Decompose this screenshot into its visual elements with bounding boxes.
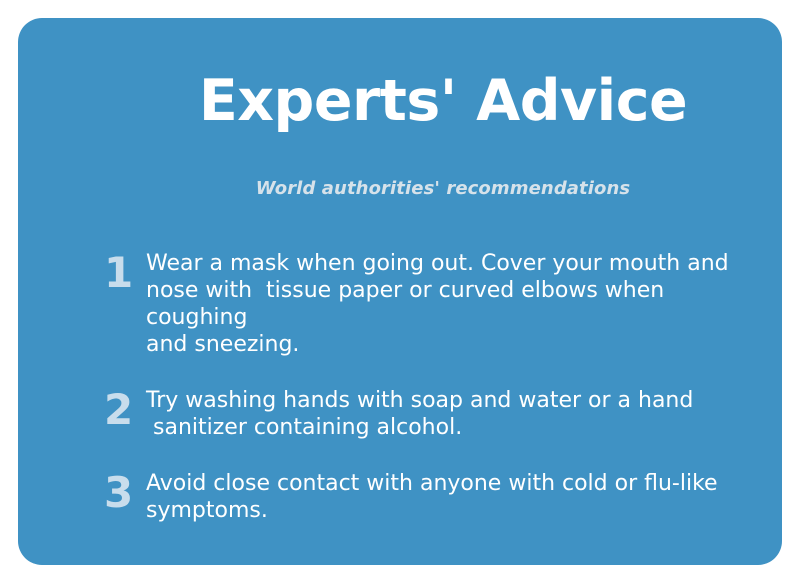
list-item: 3 Avoid close contact with anyone with c… [90, 466, 750, 524]
list-item-number: 1 [90, 251, 146, 295]
list-item-text: Try washing hands with soap and water or… [146, 383, 750, 441]
list-item-number: 2 [90, 388, 146, 432]
page-title: Experts' Advice [18, 72, 782, 132]
page-root: Experts' Advice World authorities' recom… [0, 0, 800, 581]
experts-advice-card: Experts' Advice World authorities' recom… [18, 18, 782, 565]
list-item: 1 Wear a mask when going out. Cover your… [90, 246, 750, 358]
list-item-text: Wear a mask when going out. Cover your m… [146, 246, 750, 358]
list-item-number: 3 [90, 471, 146, 515]
page-subtitle: World authorities' recommendations [18, 178, 782, 199]
advice-list: 1 Wear a mask when going out. Cover your… [90, 246, 750, 524]
list-item-text: Avoid close contact with anyone with col… [146, 466, 750, 524]
list-item: 2 Try washing hands with soap and water … [90, 383, 750, 441]
